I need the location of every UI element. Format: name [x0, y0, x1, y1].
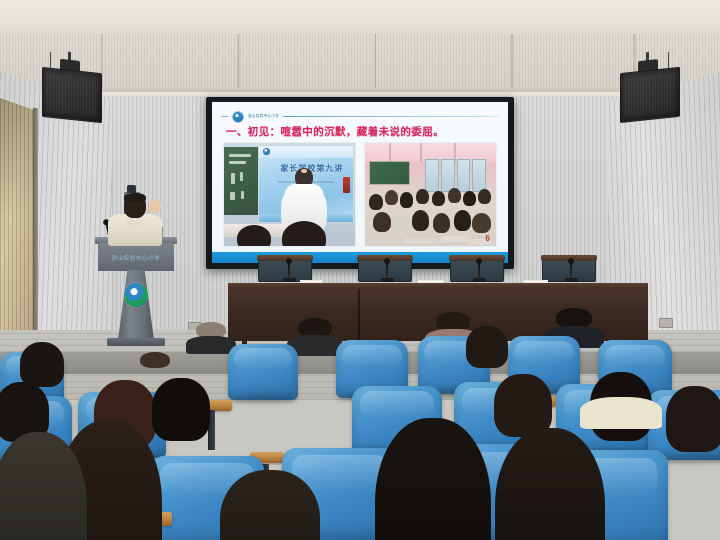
mic-base	[565, 278, 578, 282]
podium: 浙山实验中心小学	[95, 237, 177, 355]
ceiling-acoustic-grid	[0, 34, 720, 92]
audience-person	[230, 470, 310, 540]
podium-base	[107, 338, 165, 346]
speaker-grille-icon	[625, 73, 675, 116]
presentation-slide: 浙山实验中心小学 一、初见：喧嚣中的沉默，藏着未说的委屈。	[212, 102, 508, 263]
door-shadow	[0, 98, 34, 218]
inner-red-seal-icon	[343, 177, 350, 194]
audience-person	[470, 326, 504, 354]
audience-person	[500, 374, 546, 416]
presenter-at-podium	[104, 193, 166, 245]
header-dash	[221, 116, 228, 117]
photo-lecture-classroom: 家长学校第九讲	[223, 142, 356, 247]
mic-base	[473, 278, 486, 282]
audience-person	[596, 372, 646, 418]
podium-front-panel: 浙山实验中心小学	[98, 243, 174, 271]
audience-person	[196, 322, 226, 348]
presenter-face	[149, 200, 161, 213]
school-emblem-icon	[124, 283, 148, 307]
mic-base	[381, 278, 394, 282]
audience-person	[672, 386, 718, 430]
audience-person	[0, 432, 78, 540]
lecture-hall-photo: 浙山实验中心小学 一、初见：喧嚣中的沉默，藏着未说的委屈。	[0, 0, 720, 540]
audience-person	[158, 378, 204, 420]
slide-school-name: 浙山实验中心小学	[248, 114, 279, 119]
table-microphone-icon	[478, 262, 480, 279]
ceiling-soffit	[0, 0, 720, 36]
speaker-box	[42, 67, 102, 123]
audience-person	[506, 428, 594, 540]
school-crest-icon	[232, 111, 244, 123]
photo-foreground-head	[237, 225, 271, 247]
podium-front-text: 浙山实验中心小学	[104, 254, 168, 262]
door-jamb	[33, 108, 38, 346]
speaker-cable-left	[50, 52, 51, 68]
slide-header: 浙山实验中心小学	[221, 110, 499, 123]
photo-foreground-head	[282, 221, 327, 247]
table-microphone-icon	[386, 262, 388, 279]
audience-person	[0, 382, 44, 422]
table-seam	[358, 289, 360, 341]
audience-seat[interactable]	[228, 344, 298, 400]
audience-person	[140, 352, 170, 378]
slide-photo-row: 家长学校第九讲	[223, 142, 497, 247]
table-microphone-icon	[570, 262, 572, 279]
photo-audience-crowd	[365, 182, 496, 246]
blackboard	[224, 147, 261, 215]
ceiling-speaker-right	[620, 63, 678, 121]
presenter-hair	[124, 193, 146, 202]
speaker-cable-right	[668, 52, 669, 68]
screen-display-area: 浙山实验中心小学 一、初见：喧嚣中的沉默，藏着未说的委屈。	[212, 102, 508, 263]
photo-crowded-classroom: 6	[364, 142, 497, 247]
table-microphone-icon	[288, 262, 290, 279]
mic-base	[283, 278, 296, 282]
wall-outlet-right	[659, 318, 673, 328]
header-rule	[283, 116, 499, 118]
audience-person	[298, 318, 332, 348]
ceiling-speaker-left	[42, 63, 100, 121]
speaker-box	[620, 67, 680, 123]
slide-page-number: 6	[483, 233, 492, 244]
audience-person	[386, 418, 480, 540]
slide-title: 一、初见：喧嚣中的沉默，藏着未说的委屈。	[226, 124, 498, 139]
projection-screen[interactable]: 浙山实验中心小学 一、初见：喧嚣中的沉默，藏着未说的委屈。	[206, 97, 514, 269]
audience-person	[24, 342, 60, 372]
speaker-grille-icon	[47, 73, 97, 116]
